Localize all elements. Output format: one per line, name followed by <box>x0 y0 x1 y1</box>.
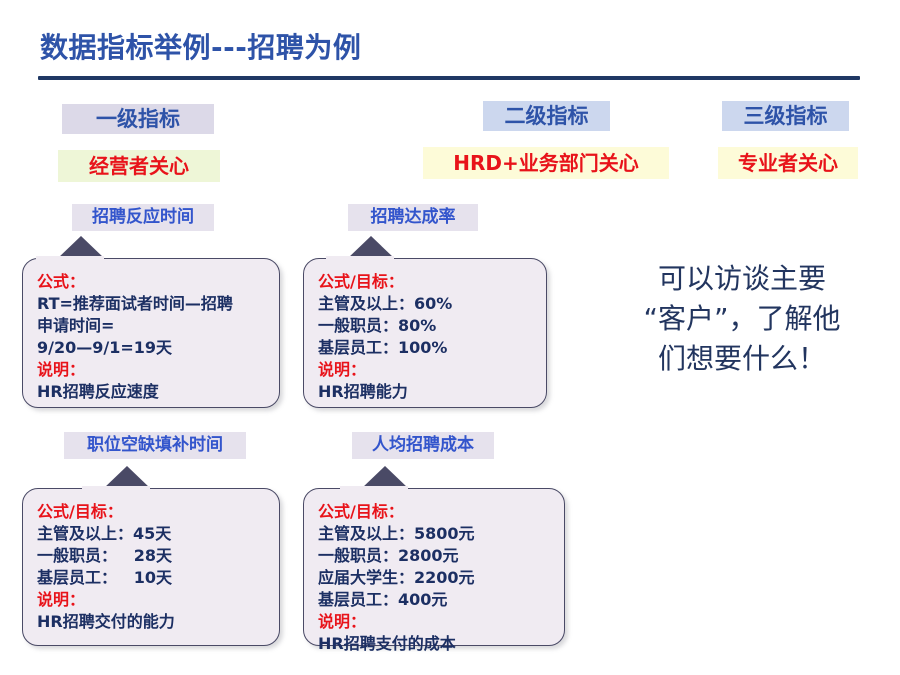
callout-tail-mask <box>82 486 150 490</box>
page-title: 数据指标举例---招聘为例 <box>40 26 361 66</box>
metric-callout-time-to-fill: 公式/目标： 主管及以上：45天 一般职员： 28天 基层员工： 10天 说明：… <box>22 488 280 646</box>
slide-canvas: 数据指标举例---招聘为例 一级指标 二级指标 三级指标 经营者关心 HRD+业… <box>0 0 900 675</box>
callout-line: 公式： <box>37 271 269 293</box>
level-badge-secondary: 二级指标 <box>483 101 610 131</box>
callout-line: 说明： <box>318 359 536 381</box>
callout-line: 9/20—9/1=19天 <box>37 337 269 359</box>
metric-chip-fulfillment: 招聘达成率 <box>348 204 478 231</box>
callout-line: 申请时间= <box>37 315 269 337</box>
callout-body: 公式/目标： 主管及以上：60% 一般职员：80% 基层员工：100% 说明： … <box>318 271 536 403</box>
callout-body: 公式/目标： 主管及以上：5800元 一般职员：2800元 应届大学生：2200… <box>318 501 554 655</box>
metric-callout-fulfillment: 公式/目标： 主管及以上：60% 一般职员：80% 基层员工：100% 说明： … <box>303 258 547 408</box>
callout-line: 说明： <box>318 611 554 633</box>
callout-line: 主管及以上：45天 <box>37 523 269 545</box>
callout-tail-mask <box>326 256 394 260</box>
metric-chip-response-time: 招聘反应时间 <box>72 204 214 231</box>
side-note-text: 可以访谈主要 “客户”，了解他 们想要什么！ <box>596 259 888 379</box>
metric-chip-cost-per-hire: 人均招聘成本 <box>352 432 494 459</box>
metric-callout-cost-per-hire: 公式/目标： 主管及以上：5800元 一般职员：2800元 应届大学生：2200… <box>303 488 565 646</box>
callout-line: 主管及以上：5800元 <box>318 523 554 545</box>
level-badge-primary: 一级指标 <box>62 104 214 134</box>
callout-line: 基层员工：100% <box>318 337 536 359</box>
callout-tail-mask <box>36 256 104 260</box>
callout-line: 一般职员：2800元 <box>318 545 554 567</box>
callout-line: 一般职员： 28天 <box>37 545 269 567</box>
callout-body: 公式/目标： 主管及以上：45天 一般职员： 28天 基层员工： 10天 说明：… <box>37 501 269 633</box>
callout-line: 说明： <box>37 359 269 381</box>
callout-line: HR招聘反应速度 <box>37 381 269 403</box>
callout-line: 说明： <box>37 589 269 611</box>
callout-line: 主管及以上：60% <box>318 293 536 315</box>
level-badge-tertiary: 三级指标 <box>722 101 849 131</box>
metric-callout-response-time: 公式： RT=推荐面试者时间—招聘 申请时间= 9/20—9/1=19天 说明：… <box>22 258 280 408</box>
callout-line: 公式/目标： <box>318 501 554 523</box>
callout-line: 应届大学生：2200元 <box>318 567 554 589</box>
owner-badge-hrd: HRD+业务部门关心 <box>423 147 669 179</box>
callout-line: 基层员工：400元 <box>318 589 554 611</box>
callout-tail-icon <box>362 466 408 488</box>
callout-line: 公式/目标： <box>37 501 269 523</box>
callout-tail-icon <box>104 466 150 488</box>
owner-badge-executive: 经营者关心 <box>58 150 220 182</box>
owner-badge-specialist: 专业者关心 <box>718 147 858 179</box>
callout-tail-mask <box>340 486 408 490</box>
callout-line: HR招聘能力 <box>318 381 536 403</box>
title-divider <box>38 76 860 80</box>
metric-chip-time-to-fill: 职位空缺填补时间 <box>64 432 246 459</box>
callout-tail-icon <box>348 236 394 258</box>
callout-tail-icon <box>58 236 104 258</box>
callout-line: RT=推荐面试者时间—招聘 <box>37 293 269 315</box>
callout-line: 基层员工： 10天 <box>37 567 269 589</box>
callout-line: HR招聘交付的能力 <box>37 611 269 633</box>
callout-body: 公式： RT=推荐面试者时间—招聘 申请时间= 9/20—9/1=19天 说明：… <box>37 271 269 403</box>
callout-line: HR招聘支付的成本 <box>318 633 554 655</box>
callout-line: 公式/目标： <box>318 271 536 293</box>
callout-line: 一般职员：80% <box>318 315 536 337</box>
